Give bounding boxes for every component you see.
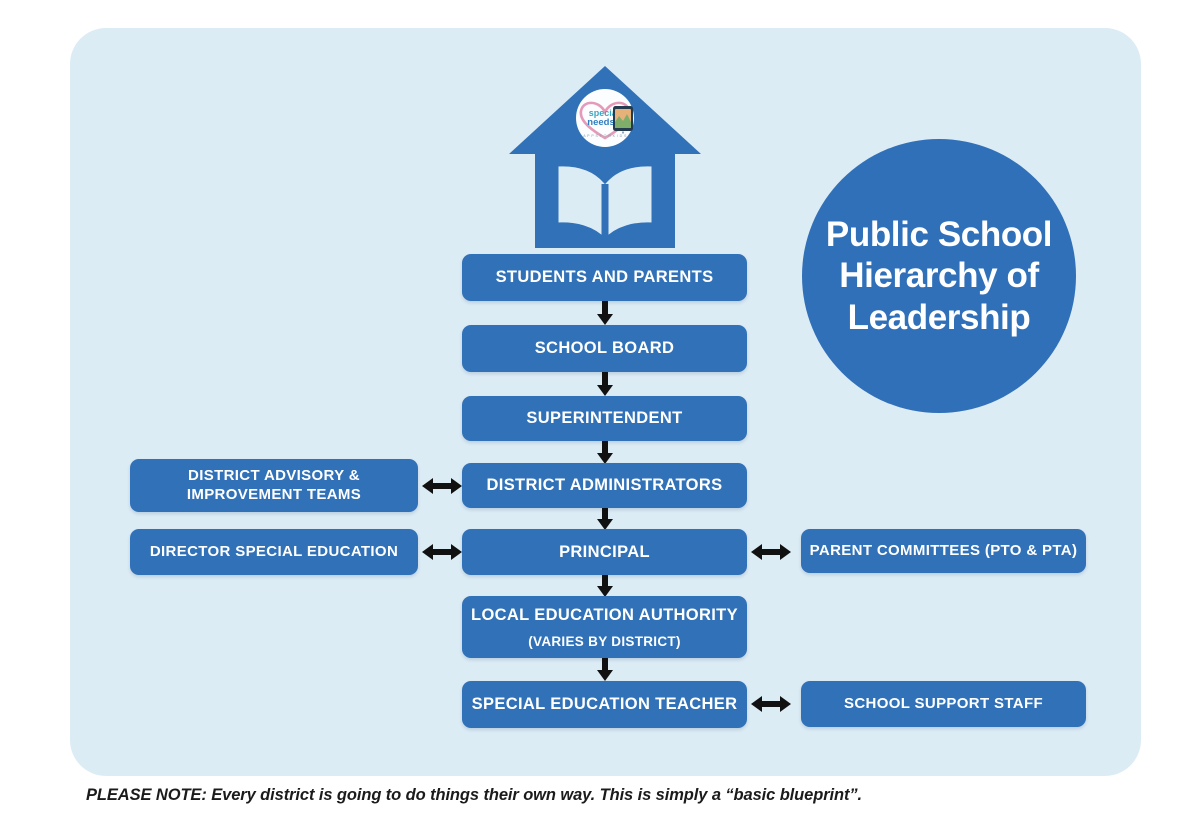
title-badge: Public School Hierarchy of Leadership (802, 139, 1076, 413)
arrow-district-advisory-to-district-administrators (422, 478, 462, 494)
node-district-administrators[interactable]: DISTRICT ADMINISTRATORS (462, 463, 747, 508)
node-label: DISTRICT ADMINISTRATORS (487, 475, 723, 496)
node-label: SCHOOL SUPPORT STAFF (844, 695, 1043, 714)
footnote-text: PLEASE NOTE: Every district is going to … (86, 786, 862, 805)
svg-text:A P P S F O R K I D S: A P P S F O R K I D S (583, 134, 627, 138)
svg-text:needs: needs (587, 117, 614, 128)
node-parent-committees[interactable]: PARENT COMMITTEES (PTO & PTA) (801, 529, 1086, 573)
school-house-icon: special needs A P P S F O R K I D S (505, 62, 705, 254)
arrow-principal-to-local-education-authority (597, 575, 613, 597)
node-school-support-staff[interactable]: SCHOOL SUPPORT STAFF (801, 681, 1086, 727)
node-label: PRINCIPAL (559, 542, 650, 563)
arrow-principal-to-parent-committees (751, 544, 791, 560)
arrow-special-education-teacher-to-school-support-staff (751, 696, 791, 712)
node-label: SUPERINTENDENT (526, 408, 682, 429)
title-text: Public School Hierarchy of Leadership (812, 214, 1066, 338)
node-local-education-authority[interactable]: LOCAL EDUCATION AUTHORITY (VARIES BY DIS… (462, 596, 747, 658)
arrow-superintendent-to-district-administrators (597, 441, 613, 464)
arrow-district-administrators-to-principal (597, 508, 613, 530)
node-school-board[interactable]: SCHOOL BOARD (462, 325, 747, 372)
node-sublabel: (VARIES BY DISTRICT) (528, 634, 681, 649)
node-principal[interactable]: PRINCIPAL (462, 529, 747, 575)
arrow-director-special-education-to-principal (422, 544, 462, 560)
diagram-canvas: special needs A P P S F O R K I D S Publ… (0, 0, 1189, 829)
node-label: DISTRICT ADVISORY & IMPROVEMENT TEAMS (187, 467, 361, 505)
node-students-and-parents[interactable]: STUDENTS AND PARENTS (462, 254, 747, 301)
special-needs-logo: special needs A P P S F O R K I D S (576, 89, 634, 147)
node-label: SCHOOL BOARD (535, 338, 675, 359)
node-special-education-teacher[interactable]: SPECIAL EDUCATION TEACHER (462, 681, 747, 728)
arrow-local-education-authority-to-special-education-teacher (597, 658, 613, 681)
node-director-special-education[interactable]: DIRECTOR SPECIAL EDUCATION (130, 529, 418, 575)
arrow-school-board-to-superintendent (597, 372, 613, 396)
node-district-advisory-improvement-teams[interactable]: DISTRICT ADVISORY & IMPROVEMENT TEAMS (130, 459, 418, 512)
node-label: PARENT COMMITTEES (PTO & PTA) (810, 542, 1078, 561)
node-label: SPECIAL EDUCATION TEACHER (472, 694, 738, 715)
arrow-students-to-school-board (597, 301, 613, 325)
node-superintendent[interactable]: SUPERINTENDENT (462, 396, 747, 441)
node-label: DIRECTOR SPECIAL EDUCATION (150, 543, 398, 562)
node-label: STUDENTS AND PARENTS (496, 267, 714, 288)
node-label: LOCAL EDUCATION AUTHORITY (471, 605, 738, 626)
